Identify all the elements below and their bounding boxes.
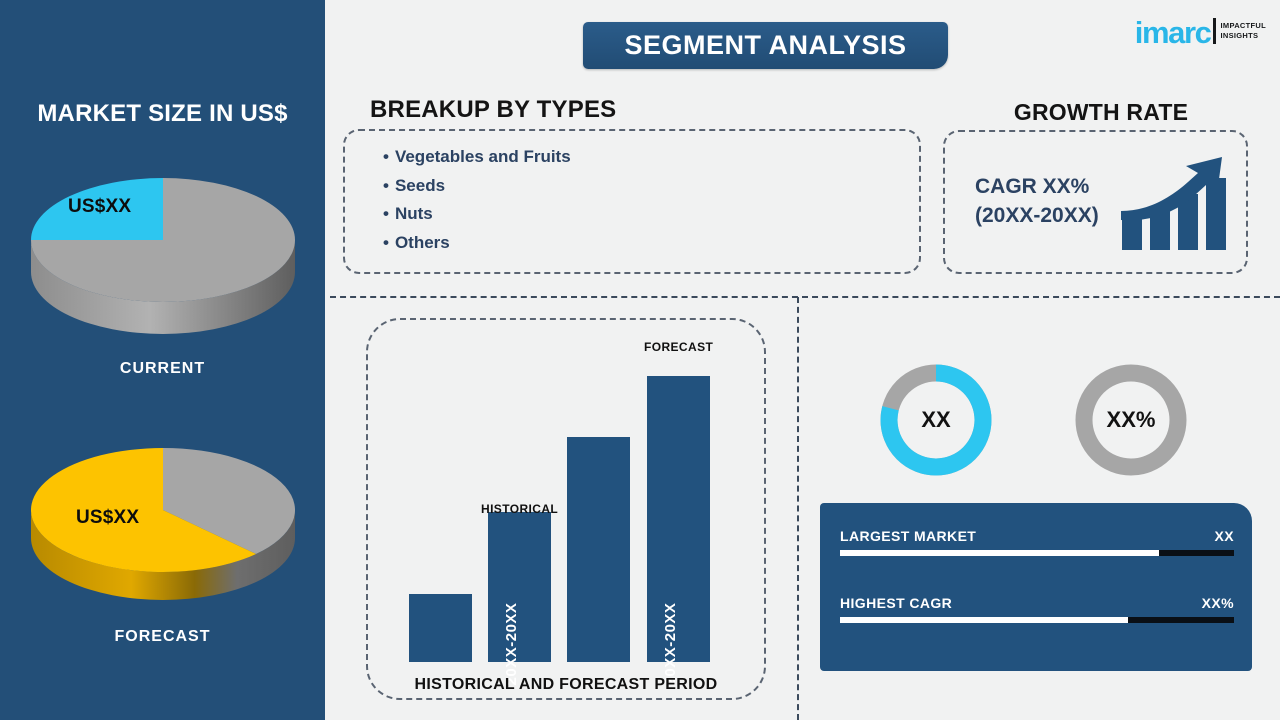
list-item: •Others	[383, 229, 919, 258]
cagr-line-2: (20XX-20XX)	[975, 201, 1099, 230]
bullet-icon: •	[383, 147, 389, 166]
donut-left-value: XX	[876, 360, 996, 480]
cagr-line-1: CAGR XX%	[975, 172, 1099, 201]
infographic-root: MARKET SIZE IN US$	[0, 0, 1280, 720]
bar-2-historical: 20XX-20XX	[488, 512, 551, 662]
list-item-label: Vegetables and Fruits	[395, 147, 571, 166]
logo-tagline-line2: INSIGHTS	[1221, 31, 1266, 41]
metric-highest-cagr: HIGHEST CAGR XX%	[840, 595, 1234, 623]
metric-value: XX	[1215, 528, 1234, 544]
bullet-icon: •	[383, 233, 389, 252]
bar-chart: 20XX-20XX HISTORICAL 20XX-20XX FORECAST	[409, 352, 729, 662]
pie-forecast-value: US$XX	[76, 507, 139, 529]
pie-current-value: US$XX	[68, 196, 131, 218]
sidebar-title: MARKET SIZE IN US$	[0, 100, 325, 128]
bar-1	[409, 594, 472, 662]
key-metrics-panel: LARGEST MARKET XX HIGHEST CAGR XX%	[820, 503, 1252, 671]
donut-chart-right: XX%	[1071, 360, 1191, 485]
metric-label: HIGHEST CAGR	[840, 595, 952, 611]
bar-4-range-label: 20XX-20XX	[662, 603, 679, 686]
donut-chart-left: XX	[876, 360, 996, 485]
donut-right-value: XX%	[1071, 360, 1191, 480]
metric-label: LARGEST MARKET	[840, 528, 976, 544]
metric-value: XX%	[1202, 595, 1234, 611]
list-item: •Nuts	[383, 200, 919, 229]
growth-chart-arrow-icon	[1118, 154, 1230, 259]
breakup-by-types-box: •Vegetables and Fruits •Seeds •Nuts •Oth…	[343, 129, 921, 274]
growth-rate-box: CAGR XX% (20XX-20XX)	[943, 130, 1248, 274]
pie-current-label: CURRENT	[0, 360, 325, 378]
metric-progress-fill	[840, 617, 1128, 623]
pie-chart-current	[0, 160, 325, 340]
list-item-label: Nuts	[395, 204, 433, 223]
pie-forecast-label: FORECAST	[0, 628, 325, 646]
breakup-by-types-heading: BREAKUP BY TYPES	[370, 96, 616, 124]
metric-progress-fill	[840, 550, 1159, 556]
metric-largest-market: LARGEST MARKET XX	[840, 528, 1234, 556]
list-item-label: Seeds	[395, 176, 445, 195]
pie-chart-forecast	[0, 430, 325, 610]
pie-forecast-svg	[28, 430, 298, 605]
bar-4-forecast: 20XX-20XX	[647, 376, 710, 662]
list-item-label: Others	[395, 233, 450, 252]
pie-current-svg	[28, 160, 298, 335]
logo-tagline-line1: IMPACTFUL	[1221, 21, 1266, 31]
market-size-sidebar: MARKET SIZE IN US$	[0, 0, 325, 720]
header: SEGMENT ANALYSIS imarc IMPACTFUL INSIGHT…	[325, 0, 1280, 90]
page-title: SEGMENT ANALYSIS	[624, 30, 906, 61]
bullet-icon: •	[383, 176, 389, 195]
bar-chart-axis-label: HISTORICAL AND FORECAST PERIOD	[366, 676, 766, 694]
logo-divider	[1213, 18, 1216, 44]
bar-2-range-label: 20XX-20XX	[503, 603, 520, 686]
page-title-pill: SEGMENT ANALYSIS	[583, 22, 948, 69]
metric-progress-track	[840, 550, 1234, 556]
list-item: •Vegetables and Fruits	[383, 143, 919, 172]
forecast-caption: FORECAST	[644, 340, 713, 354]
metric-progress-track	[840, 617, 1234, 623]
bar-3	[567, 437, 630, 662]
historical-caption: HISTORICAL	[481, 502, 558, 516]
list-item: •Seeds	[383, 172, 919, 201]
growth-rate-heading: GROWTH RATE	[943, 99, 1259, 126]
imarc-logo: imarc IMPACTFUL INSIGHTS	[1135, 14, 1266, 48]
breakup-types-list: •Vegetables and Fruits •Seeds •Nuts •Oth…	[345, 131, 919, 257]
logo-tagline: IMPACTFUL INSIGHTS	[1221, 21, 1266, 41]
growth-rate-text: CAGR XX% (20XX-20XX)	[975, 172, 1099, 230]
bullet-icon: •	[383, 204, 389, 223]
divider-horizontal	[330, 296, 1280, 298]
logo-wordmark: imarc	[1135, 17, 1211, 48]
divider-vertical	[797, 297, 799, 720]
